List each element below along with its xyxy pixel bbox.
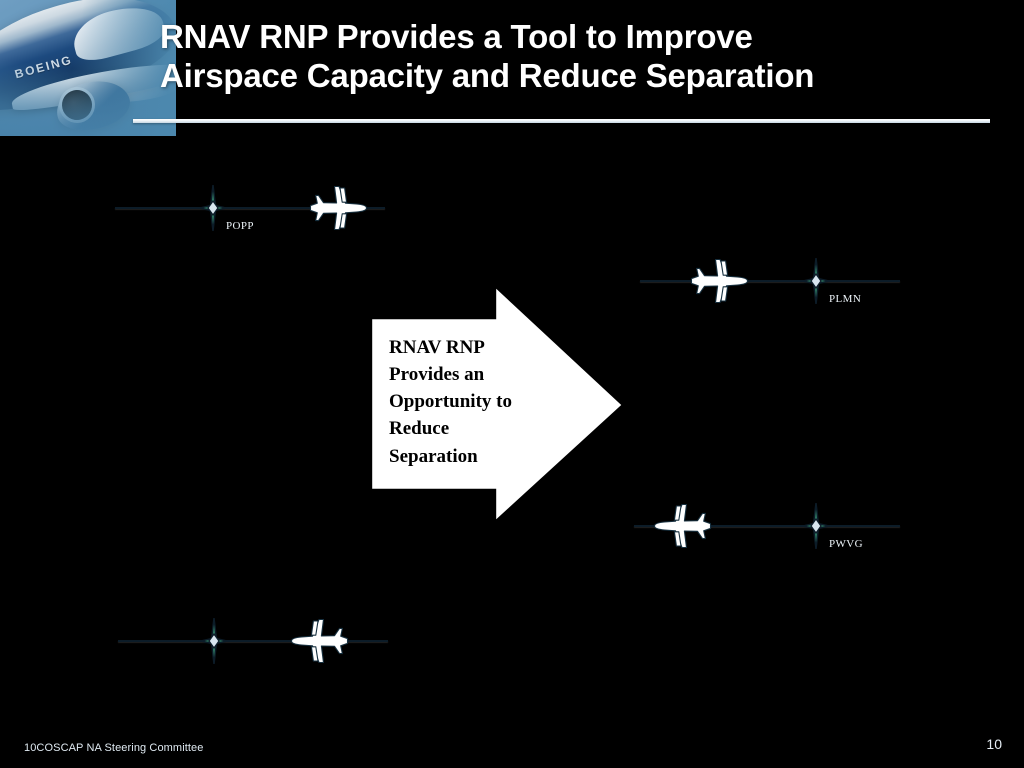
aircraft-icon [287,615,349,667]
footer-label: 10COSCAP NA Steering Committee [24,742,203,754]
aircraft-icon [650,500,712,552]
waypoint-star-icon [200,185,226,231]
waypoint-label: PLMN [829,293,861,305]
route-line [115,207,385,209]
waypoint-star-icon [803,258,829,304]
route-line [634,525,900,527]
title-line-1: RNAV RNP Provides a Tool to Improve [160,18,1016,57]
aircraft-icon [309,182,371,234]
callout-arrow-text: RNAV RNP Provides an Opportunity to Redu… [389,334,539,470]
waypoint-star-icon [201,618,227,664]
waypoint-label: PWVG [829,538,863,550]
title-line-2: Airspace Capacity and Reduce Separation [160,57,1016,96]
aircraft-icon [690,255,752,307]
slide-canvas: BOEING RNAV RNP Provides a Tool to Impro… [0,0,1024,768]
waypoint-star-icon [803,503,829,549]
page-number: 10 [986,736,1002,752]
callout-arrow: RNAV RNP Provides an Opportunity to Redu… [367,284,627,524]
boeing-aircraft-photo: BOEING [0,0,176,136]
route-line [118,640,388,642]
waypoint-label: POPP [226,220,254,232]
title-divider [133,119,990,123]
photo-fade-overlay [0,0,176,136]
route-line [640,280,900,282]
page-title: RNAV RNP Provides a Tool to Improve Airs… [160,18,1016,96]
